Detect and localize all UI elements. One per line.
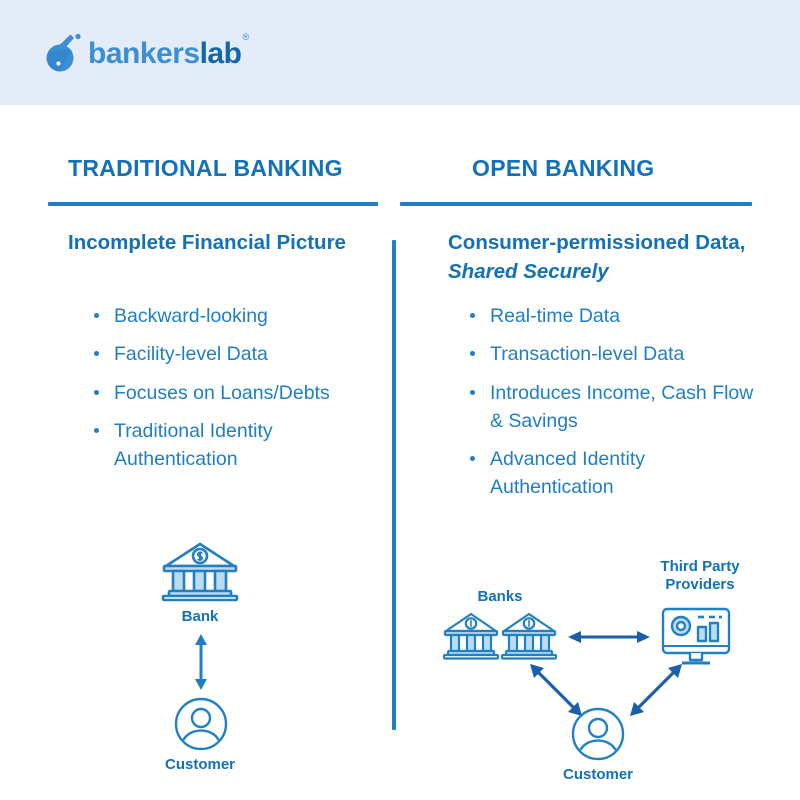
double-arrow-horizontal-icon [568,628,650,651]
logo-text-bankers: bankers [88,37,200,70]
customer-icon [173,696,229,757]
list-item: Transaction-level Data [468,340,758,368]
node-label-third-party: Third PartyProviders [630,558,770,595]
node-label-third-party-line1: Third Party [660,558,739,575]
list-item: Facility-level Data [92,340,372,368]
subhead-traditional: Incomplete Financial Picture [68,228,358,257]
node-label-customer: Customer [150,756,250,774]
diagram-traditional-banking: Bank Customer [110,540,290,780]
subhead-open: Consumer-permissioned Data, Shared Secur… [448,228,748,286]
node-label-banks: Banks [440,588,560,606]
divider-rule-left [48,202,378,206]
divider-rule-right [400,202,752,206]
list-item: Introduces Income, Cash Flow & Savings [468,379,758,436]
bank-icon-pair [442,610,558,669]
registered-trademark-icon: ® [242,32,248,42]
column-title-open: OPEN BANKING [472,155,655,182]
customer-icon [570,706,626,767]
subhead-open-plain: Consumer-permissioned Data, [448,231,745,254]
logo-text-lab: lab [200,37,242,70]
list-item: Real-time Data [468,302,758,330]
list-item: Focuses on Loans/Debts [92,379,372,407]
node-label-customer: Customer [548,766,648,784]
list-item: Advanced Identity Authentication [468,445,758,502]
header-band: bankerslab® [0,0,800,105]
double-arrow-vertical-icon [192,634,210,695]
diagram-open-banking: Banks [420,550,790,790]
bank-icon [158,540,242,607]
flask-icon [44,32,84,74]
column-title-traditional: TRADITIONAL BANKING [68,155,343,182]
bullet-list-open: Real-time Data Transaction-level Data In… [468,302,758,512]
node-label-bank: Bank [150,608,250,626]
double-arrow-diagonal-right-icon [628,662,684,723]
list-item: Backward-looking [92,302,372,330]
list-item: Traditional Identity Authentication [92,417,372,474]
divider-vertical [392,240,396,730]
logo-wordmark: bankerslab® [88,39,248,69]
node-label-third-party-line2: Providers [665,576,734,593]
subhead-open-italic: Shared Securely [448,260,609,283]
brand-logo[interactable]: bankerslab® [44,30,248,76]
bullet-list-traditional: Backward-looking Facility-level Data Foc… [92,302,372,483]
